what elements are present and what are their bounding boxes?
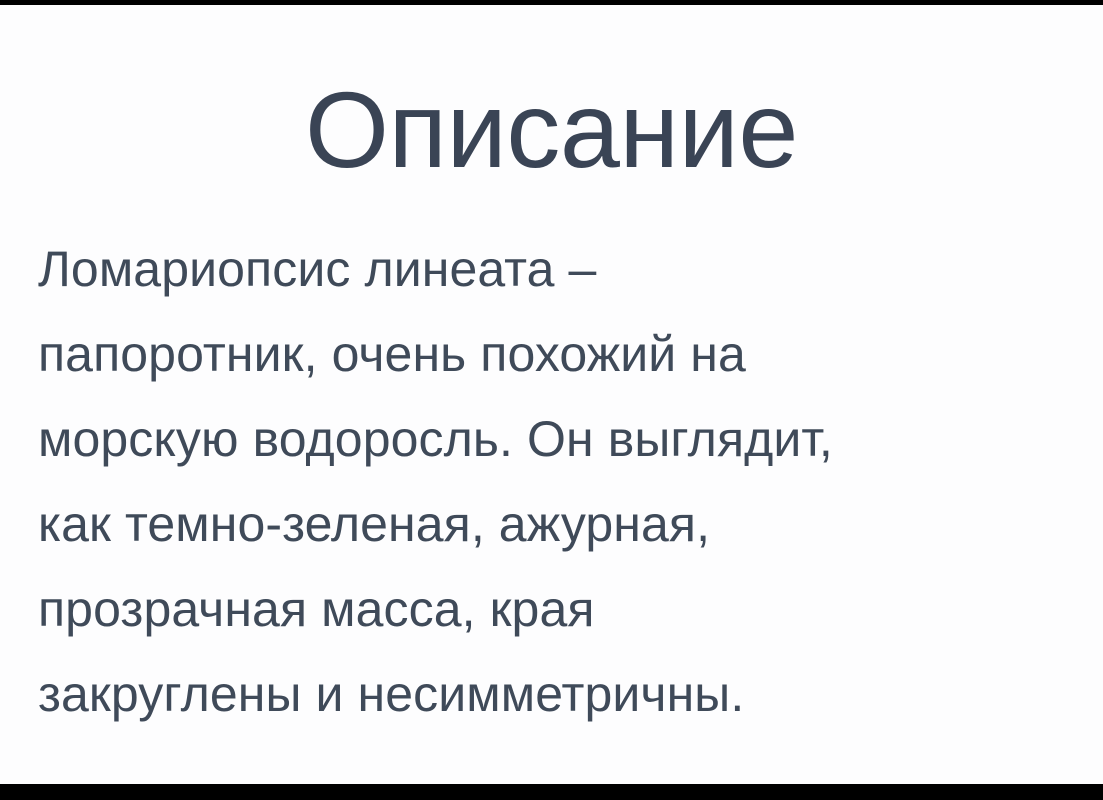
description-text-block: Ломариопсис линеата – папоротник, очень … (38, 227, 1058, 737)
page-title: Описание (0, 65, 1103, 195)
letterbox-bar-top (0, 0, 1103, 5)
letterbox-bar-bottom (0, 784, 1103, 800)
description-page: Описание Ломариопсис линеата – папоротни… (0, 5, 1103, 784)
description-line: Ломариопсис линеата – (38, 227, 1058, 312)
description-line: морскую водоросль. Он выглядит, (38, 397, 1058, 482)
description-line: прозрачная масса, края (38, 567, 1058, 652)
description-line: как темно-зеленая, ажурная, (38, 482, 1058, 567)
description-line: папоротник, очень похожий на (38, 312, 1058, 397)
description-line: закруглены и несимметричны. (38, 652, 1058, 737)
screenshot-canvas: Описание Ломариопсис линеата – папоротни… (0, 0, 1103, 800)
